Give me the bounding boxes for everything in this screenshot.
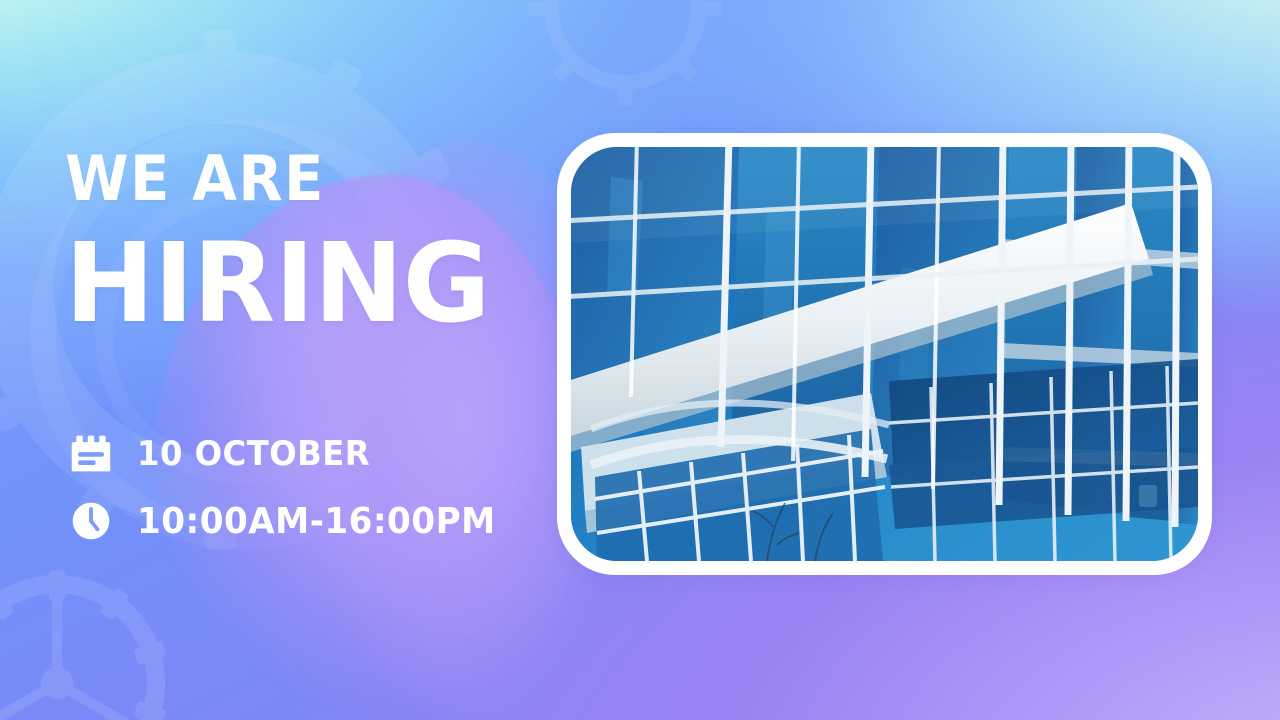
headline-hiring: HIRING <box>65 228 490 338</box>
hiring-poster: WE ARE HIRING 10 OCTOBER <box>0 0 1280 720</box>
headline-we-are: WE ARE <box>65 148 325 210</box>
poster-text-column: WE ARE HIRING 10 OCTOBER <box>65 0 585 720</box>
clock-icon <box>67 497 115 545</box>
event-time-label: 10:00AM-16:00PM <box>137 501 496 542</box>
glass-building-illustration <box>571 147 1198 561</box>
calendar-icon <box>67 430 115 478</box>
event-date-label: 10 OCTOBER <box>137 434 370 474</box>
photo-frame <box>557 133 1212 575</box>
event-time-row: 10:00AM-16:00PM <box>67 497 515 545</box>
event-date-row: 10 OCTOBER <box>67 430 382 478</box>
building-photo <box>571 147 1198 561</box>
